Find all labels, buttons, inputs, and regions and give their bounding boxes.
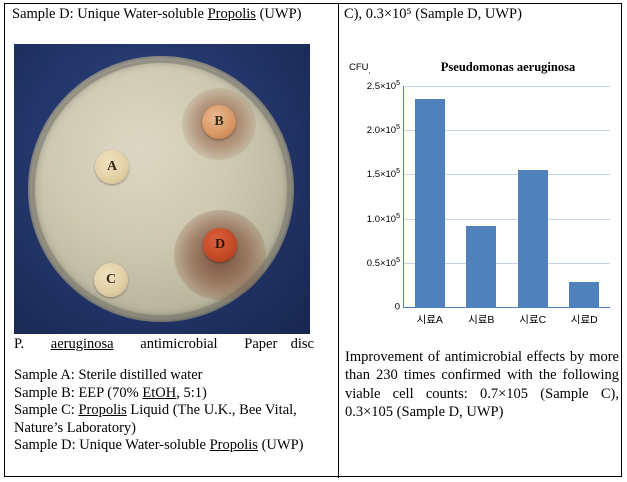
left-column: Sample D: Unique Water-soluble Propolis … <box>5 4 338 477</box>
sample-legend-item-d: Sample D: Unique Water-soluble Propolis … <box>14 437 330 455</box>
chart-bar <box>466 226 496 307</box>
chart-bar <box>415 99 445 307</box>
paper-disc-a: A <box>95 150 129 184</box>
right-top-text: C), 0.3×10⁵ (Sample D, UWP) <box>344 6 619 23</box>
etoh-underline: EtOH <box>142 385 176 401</box>
propolis-underline-d: Propolis <box>210 437 258 453</box>
paper-disc-b: B <box>202 105 236 139</box>
sample-legend-list: Sample A: Sterile distilled water Sample… <box>14 367 330 455</box>
chart-plot-area: 00.5×1051.0×1051.5×1052.0×1052.5×105시료A시… <box>403 86 610 308</box>
chart-ytick-label: 1.0×105 <box>367 213 400 225</box>
paper-disc-d: D <box>203 228 237 262</box>
chart-title: Pseudomonas aeruginosa <box>403 60 613 75</box>
chart-xtick-label: 시료B <box>468 312 494 327</box>
propolis-underline-c: Propolis <box>78 402 126 418</box>
paper-disc-c: C <box>94 263 128 297</box>
document-page: Sample D: Unique Water-soluble Propolis … <box>0 0 627 482</box>
chart-xtick-label: 시료C <box>519 312 546 327</box>
chart-ytick-label: 0 <box>395 302 400 313</box>
propolis-underline: Propolis <box>208 6 256 22</box>
chart-bar <box>518 170 548 307</box>
bar-chart: CFU, Pseudomonas aeruginosa 00.5×1051.0×… <box>343 48 620 348</box>
chart-ytick-label: 2.5×105 <box>367 80 400 92</box>
sample-legend-item-b: Sample B: EEP (70% EtOH, 5:1) <box>14 385 330 403</box>
chart-ytick-label: 0.5×105 <box>367 257 400 269</box>
sample-legend-item-c: Sample C: Propolis Liquid (The U.K., Bee… <box>14 402 330 437</box>
chart-xtick-label: 시료D <box>571 312 598 327</box>
chart-gridline <box>404 86 610 87</box>
bottom-paragraph: Improvement of antimicrobial effects by … <box>345 348 619 422</box>
caption-species-underline: aeruginosa <box>51 336 114 352</box>
chart-bar <box>569 282 599 307</box>
chart-ytick-label: 1.5×105 <box>367 168 400 180</box>
photo-caption: P. aeruginosa antimicrobial Paper disc <box>14 336 314 353</box>
chart-xtick-label: 시료A <box>417 312 443 327</box>
petri-dish-photo: A B C D <box>14 44 310 334</box>
chart-ylabel: CFU, <box>349 62 370 75</box>
right-column: C), 0.3×10⁵ (Sample D, UWP) CFU, Pseudom… <box>339 4 622 477</box>
right-bottom-text: Improvement of antimicrobial effects by … <box>345 348 619 422</box>
sample-legend-item-a: Sample A: Sterile distilled water <box>14 367 330 385</box>
chart-ytick-label: 2.0×105 <box>367 124 400 136</box>
left-title: Sample D: Unique Water-soluble Propolis … <box>12 6 330 23</box>
